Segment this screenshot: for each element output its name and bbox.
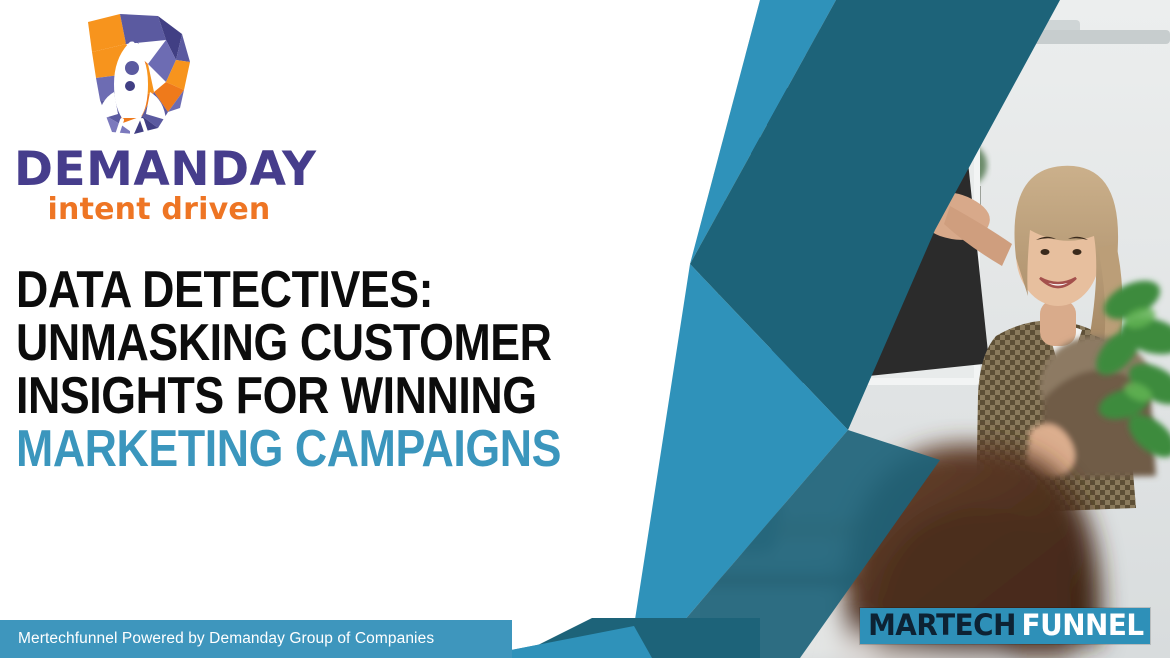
martechfunnel-part-one: MARTECH: [868, 611, 1016, 640]
headline-line-4: MARKETING CAMPAIGNS: [16, 425, 532, 474]
footer-credit-bar: Mertechfunnel Powered by Demanday Group …: [0, 620, 512, 658]
logo-tagline: intent driven: [14, 193, 304, 228]
demanday-rocket-d-icon: [62, 4, 202, 144]
demanday-logo[interactable]: DEMANDAY intent driven: [14, 4, 304, 228]
headline-line-1: DATA DETECTIVES:: [16, 266, 532, 315]
photo-illustration: [700, 0, 1170, 658]
martechfunnel-logo[interactable]: MARTECH FUNNEL: [860, 608, 1150, 644]
martechfunnel-part-two: FUNNEL: [1021, 611, 1143, 640]
dark-teal-bottom-corner: [520, 620, 720, 658]
headline-line-3: INSIGHTS FOR WINNING: [16, 372, 532, 421]
office-meeting-photo: [700, 0, 1170, 658]
headline: DATA DETECTIVES: UNMASKING CUSTOMER INSI…: [16, 266, 616, 478]
footer-credit-text: Mertechfunnel Powered by Demanday Group …: [0, 630, 434, 648]
promotional-banner: DEMANDAY intent driven DATA DETECTIVES: …: [0, 0, 1170, 658]
headline-line-2: UNMASKING CUSTOMER: [16, 319, 532, 368]
logo-wordmark: DEMANDAY: [14, 146, 304, 193]
